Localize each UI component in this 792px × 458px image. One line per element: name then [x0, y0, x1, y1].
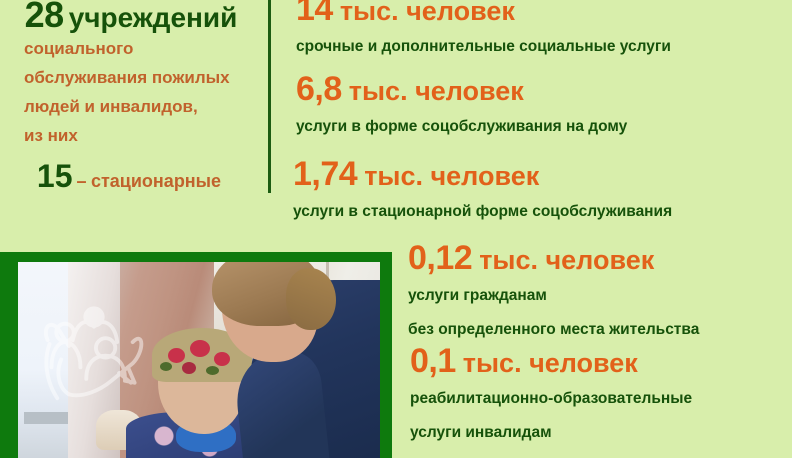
stat-unit: тыс. человек: [463, 348, 638, 378]
stat-headline: 1,74тыс. человек: [293, 157, 672, 191]
stat-description-line: услуги в форме соцобслуживания на дому: [296, 114, 627, 140]
stat-item: 6,8тыс. человек услуги в форме соцобслуж…: [296, 72, 627, 140]
stationary-institutions: 15– стационарные: [0, 158, 258, 195]
stat-value: 1,74: [293, 155, 357, 193]
stat-unit: тыс. человек: [479, 245, 654, 275]
column-divider: [268, 0, 271, 193]
stat-headline: 0,12тыс. человек: [408, 241, 699, 275]
left-column: 28учреждений социального обслуживания по…: [0, 0, 262, 230]
stat-unit: тыс. человек: [364, 161, 539, 191]
hand-with-family-logo-icon: [36, 284, 152, 406]
photo-caregiver-with-elderly-woman: [18, 262, 380, 458]
stationary-count: 15: [37, 158, 73, 194]
stat-headline: 6,8тыс. человек: [296, 72, 627, 106]
photo-frame: [0, 252, 392, 458]
stat-value: 0,1: [410, 342, 456, 380]
stat-description-line: услуги гражданам: [408, 283, 699, 309]
stat-item: 1,74тыс. человек услуги в стационарной ф…: [293, 157, 672, 225]
institutions-description-line: социального: [24, 34, 262, 63]
stat-value: 0,12: [408, 239, 472, 277]
institutions-description: социального обслуживания пожилых людей и…: [24, 34, 262, 150]
infographic-root: 28учреждений социального обслуживания по…: [0, 0, 792, 458]
stat-item: 0,1тыс. человек реабилитационно-образова…: [410, 344, 692, 446]
institutions-description-line: людей и инвалидов,: [24, 92, 262, 121]
photo-caregiver-hair-back: [286, 268, 336, 330]
stat-headline: 0,1тыс. человек: [410, 344, 692, 378]
stat-item: 14тыс. человек срочные и дополнительные …: [296, 0, 671, 60]
institutions-headline: 28учреждений: [0, 0, 262, 36]
stat-description-line: реабилитационно-образовательные: [410, 386, 692, 412]
institutions-description-line: из них: [24, 121, 262, 150]
stat-headline: 14тыс. человек: [296, 0, 671, 26]
stat-value: 14: [296, 0, 333, 28]
stat-item: 0,12тыс. человек услуги гражданам без оп…: [408, 241, 699, 343]
stationary-dash: –: [77, 171, 87, 191]
stat-unit: тыс. человек: [340, 0, 515, 26]
stat-description-line: срочные и дополнительные социальные услу…: [296, 34, 671, 60]
stat-description-line: без определенного места жительства: [408, 317, 699, 343]
stat-unit: тыс. человек: [349, 76, 524, 106]
stat-description-line: услуги инвалидам: [410, 420, 692, 446]
institutions-word: учреждений: [69, 2, 238, 33]
stat-description-line: услуги в стационарной форме соцобслужива…: [293, 199, 672, 225]
stationary-label: стационарные: [91, 171, 221, 191]
stat-value: 6,8: [296, 70, 342, 108]
institutions-description-line: обслуживания пожилых: [24, 63, 262, 92]
institutions-count: 28: [25, 0, 64, 35]
